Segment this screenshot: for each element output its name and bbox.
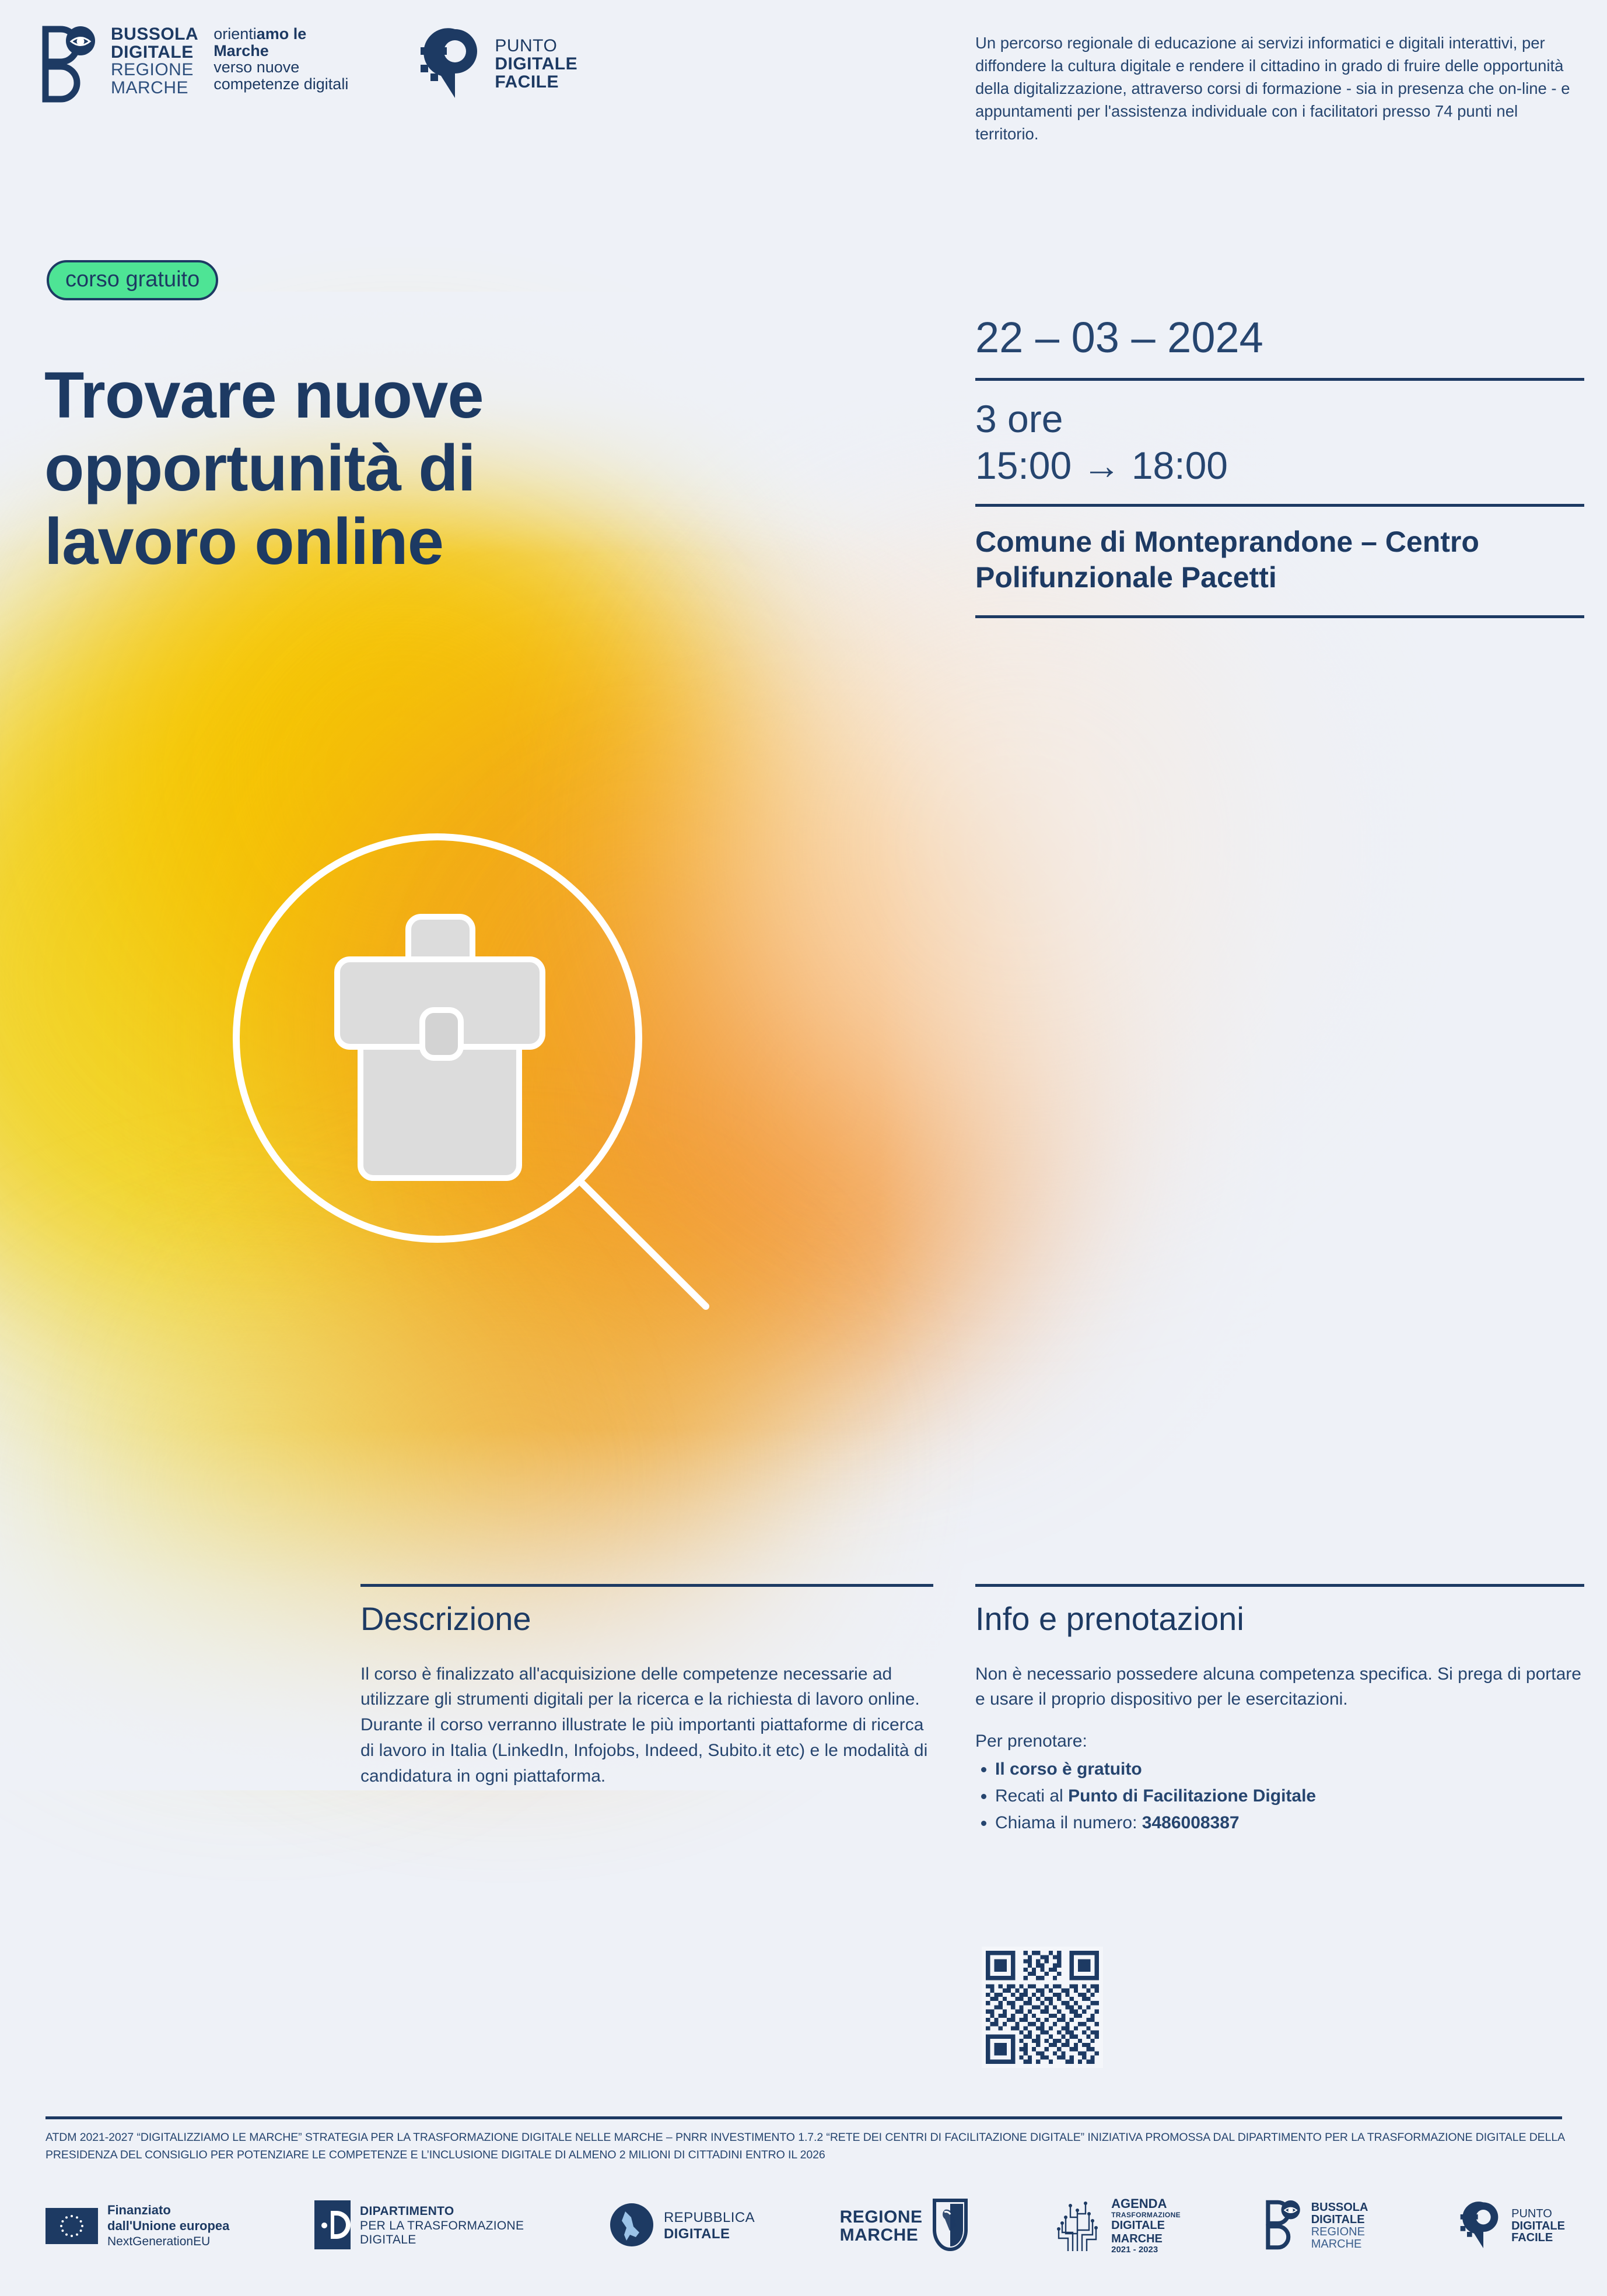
event-time-block: 3 ore 15:00 → 18:00 bbox=[975, 381, 1584, 503]
regione-marche-shield-icon bbox=[932, 2198, 968, 2255]
poster-root: BUSSOLA DIGITALE REGIONE MARCHE orientia… bbox=[0, 0, 1607, 2296]
regione-line-1: REGIONE bbox=[840, 2208, 923, 2227]
dtd-line-3: DIGITALE bbox=[360, 2233, 524, 2248]
footer-bussola-line-4: MARCHE bbox=[1311, 2238, 1368, 2251]
description-heading: Descrizione bbox=[360, 1601, 933, 1637]
booking-cta-label: Per prenotare: bbox=[975, 1729, 1584, 1754]
footer-divider bbox=[45, 2116, 1562, 2119]
bussola-tagline-2: Marche bbox=[213, 43, 348, 59]
pin-pixel-icon bbox=[1453, 2200, 1502, 2253]
dtd-line-2: PER LA TRASFORMAZIONE bbox=[360, 2219, 524, 2234]
agenda-line-2: TRASFORMAZIONE bbox=[1111, 2211, 1181, 2219]
footer-logo-strip: Finanziato dall'Unione europea NextGener… bbox=[45, 2188, 1565, 2264]
punto-line-1: PUNTO bbox=[495, 37, 577, 55]
footer-punto-line-3: FACILE bbox=[1511, 2232, 1565, 2244]
description-text: Il corso è finalizzato all'acquisizione … bbox=[360, 1661, 933, 1789]
bullet-2-bold: Punto di Facilitazione Digitale bbox=[1068, 1786, 1316, 1806]
bussola-line-4: MARCHE bbox=[111, 79, 198, 97]
bussola-line-3: REGIONE bbox=[111, 61, 198, 79]
free-course-badge: corso gratuito bbox=[47, 260, 218, 300]
event-duration: 3 ore bbox=[975, 396, 1584, 442]
agenda-line-1: AGENDA bbox=[1111, 2197, 1181, 2211]
divider-after-location bbox=[975, 615, 1584, 618]
eu-line-1: Finanziato bbox=[107, 2203, 229, 2218]
punto-line-3: FACILE bbox=[495, 73, 577, 92]
punto-line-2: DIGITALE bbox=[495, 55, 577, 73]
list-item: Chiama il numero: 3486008387 bbox=[995, 1810, 1584, 1836]
footer-punto-line-1: PUNTO bbox=[1511, 2208, 1565, 2220]
pin-pixel-icon bbox=[409, 26, 483, 103]
divider-booking bbox=[975, 1584, 1584, 1587]
list-item: Il corso è gratuito bbox=[995, 1757, 1584, 1782]
agenda-line-4: MARCHE bbox=[1111, 2232, 1181, 2245]
qr-code[interactable] bbox=[982, 1947, 1103, 2068]
punto-digitale-facile-logo: PUNTO DIGITALE FACILE bbox=[409, 26, 577, 103]
description-body: Il corso è finalizzato all'acquisizione … bbox=[360, 1661, 933, 1789]
footer-bussola-line-1: BUSSOLA bbox=[1311, 2202, 1368, 2214]
eu-flag-icon bbox=[45, 2208, 98, 2244]
booking-note: Non è necessario possedere alcuna compet… bbox=[975, 1661, 1584, 1713]
repubblica-line-1: REPUBBLICA bbox=[664, 2210, 755, 2226]
eu-line-2: dall'Unione europea bbox=[107, 2218, 229, 2234]
dtd-line-1: DIPARTIMENTO bbox=[360, 2204, 524, 2219]
repubblica-line-2: DIGITALE bbox=[664, 2226, 755, 2242]
eu-funding-logo: Finanziato dall'Unione europea NextGener… bbox=[45, 2203, 229, 2249]
agenda-digitale-marche-logo: AGENDA TRASFORMAZIONE DIGITALE MARCHE 20… bbox=[1053, 2197, 1181, 2255]
event-location: Comune di Monteprandone – Centro Polifun… bbox=[975, 507, 1584, 615]
booking-heading: Info e prenotazioni bbox=[975, 1601, 1584, 1637]
bussola-line-2: DIGITALE bbox=[111, 44, 198, 62]
booking-bullet-list: Il corso è gratuito Recati al Punto di F… bbox=[975, 1757, 1584, 1835]
booking-body: Non è necessario possedere alcuna compet… bbox=[975, 1661, 1584, 1836]
footer-bussola-line-2: DIGITALE bbox=[1311, 2214, 1368, 2226]
description-section: Descrizione Il corso è finalizzato all'a… bbox=[360, 1584, 933, 1806]
footer-legal-text: ATDM 2021-2027 “DIGITALIZZIAMO LE MARCHE… bbox=[45, 2129, 1565, 2164]
dd-monogram-icon bbox=[1266, 2200, 1302, 2253]
eu-line-3: NextGenerationEU bbox=[107, 2234, 229, 2249]
footer-punto-line-2: DIGITALE bbox=[1511, 2220, 1565, 2232]
bullet-1-bold: Il corso è gratuito bbox=[995, 1759, 1142, 1779]
event-info-column: 22 – 03 – 2024 3 ore 15:00 → 18:00 Comun… bbox=[975, 312, 1584, 618]
bussola-tagline-1: orientiamo le bbox=[213, 26, 348, 43]
bullet-3-bold: 3486008387 bbox=[1142, 1813, 1240, 1832]
circuit-tree-icon bbox=[1053, 2197, 1102, 2254]
page-title: Trovare nuove opportunità di lavoro onli… bbox=[44, 359, 663, 578]
regione-marche-logo: REGIONE MARCHE bbox=[840, 2198, 968, 2255]
bussola-digitale-logo: BUSSOLA DIGITALE REGIONE MARCHE orientia… bbox=[42, 26, 348, 103]
footer-bussola-digitale-logo: BUSSOLA DIGITALE REGIONE MARCHE bbox=[1266, 2200, 1368, 2253]
footer-bussola-line-3: REGIONE bbox=[1311, 2226, 1368, 2238]
regione-line-2: MARCHE bbox=[840, 2226, 923, 2245]
bullet-2-plain: Recati al bbox=[995, 1786, 1068, 1806]
bussola-line-1: BUSSOLA bbox=[111, 26, 198, 44]
booking-section: Info e prenotazioni Non è necessario pos… bbox=[975, 1584, 1584, 1836]
event-date: 22 – 03 – 2024 bbox=[975, 312, 1584, 378]
bussola-tagline-3: verso nuove bbox=[213, 59, 348, 76]
dipartimento-trasformazione-digitale-logo: DIPARTIMENTO PER LA TRASFORMAZIONE DIGIT… bbox=[314, 2200, 524, 2252]
magnifier-with-briefcase-icon bbox=[192, 758, 834, 1458]
bussola-tagline-4: competenze digitali bbox=[213, 76, 348, 93]
event-time-range: 15:00 → 18:00 bbox=[975, 443, 1584, 489]
italy-circle-icon bbox=[609, 2202, 654, 2251]
dd-monogram-icon bbox=[42, 26, 98, 103]
repubblica-digitale-logo: REPUBBLICA DIGITALE bbox=[609, 2202, 755, 2251]
intro-paragraph: Un percorso regionale di educazione ai s… bbox=[975, 31, 1570, 145]
divider-description bbox=[360, 1584, 933, 1587]
header-logos: BUSSOLA DIGITALE REGIONE MARCHE orientia… bbox=[42, 26, 577, 103]
agenda-line-5: 2021 - 2023 bbox=[1111, 2245, 1181, 2255]
list-item: Recati al Punto di Facilitazione Digital… bbox=[995, 1783, 1584, 1809]
footer-punto-digitale-facile-logo: PUNTO DIGITALE FACILE bbox=[1453, 2200, 1565, 2253]
dtd-mark-icon bbox=[314, 2200, 351, 2252]
bullet-3-plain: Chiama il numero: bbox=[995, 1813, 1142, 1832]
agenda-line-3: DIGITALE bbox=[1111, 2219, 1181, 2232]
